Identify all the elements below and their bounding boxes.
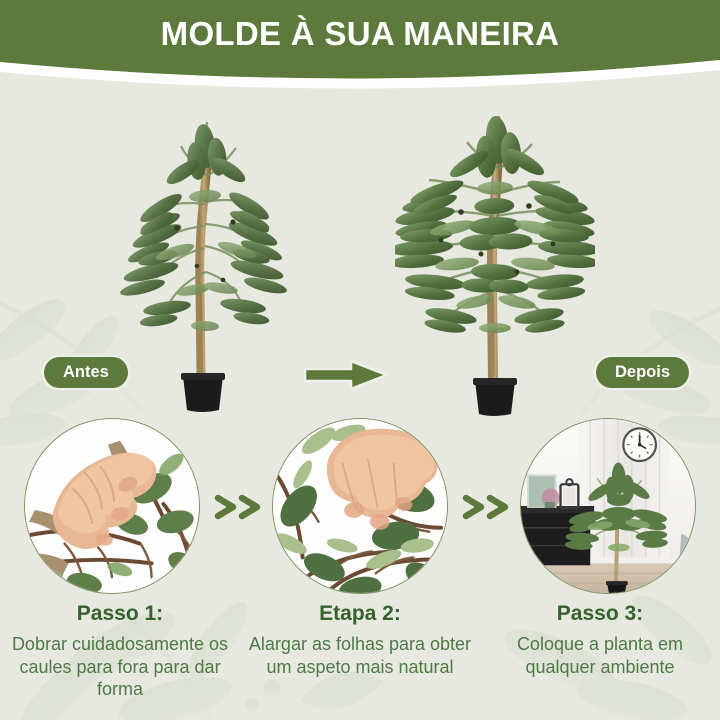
step-2-body: Alargar as folhas para obter um aspeto m… — [246, 633, 474, 678]
hero-comparison: Antes Depois — [0, 76, 720, 421]
step-1-photo — [24, 418, 200, 594]
step-3-title: Passo 3: — [486, 600, 714, 628]
step-1-body: Dobrar cuidadosamente os caules para for… — [6, 633, 234, 701]
step-3-caption: Passo 3: Coloque a planta em qualquer am… — [480, 600, 720, 720]
after-tree-image — [395, 76, 595, 421]
double-chevron-right-icon-1 — [212, 492, 270, 522]
step-1-title: Passo 1: — [6, 600, 234, 628]
badge-before: Antes — [44, 357, 128, 388]
step-2-photo — [272, 418, 448, 594]
step-1-caption: Passo 1: Dobrar cuidadosamente os caules… — [0, 600, 240, 720]
badge-before-label: Antes — [63, 363, 109, 382]
page-title: MOLDE À SUA MANEIRA — [0, 0, 720, 68]
step-3-body: Coloque a planta em qualquer ambiente — [486, 633, 714, 678]
badge-after: Depois — [596, 357, 689, 388]
infographic-page: MOLDE À SUA MANEIRA — [0, 0, 720, 720]
step-3-photo — [520, 418, 696, 594]
step-2-caption: Etapa 2: Alargar as folhas para obter um… — [240, 600, 480, 720]
double-chevron-right-icon-2 — [460, 492, 518, 522]
badge-after-label: Depois — [615, 363, 670, 382]
before-tree-image — [105, 76, 305, 421]
arrow-right-icon — [303, 360, 389, 390]
step-photo-row — [0, 418, 720, 596]
step-captions: Passo 1: Dobrar cuidadosamente os caules… — [0, 600, 720, 720]
step-2-title: Etapa 2: — [246, 600, 474, 628]
